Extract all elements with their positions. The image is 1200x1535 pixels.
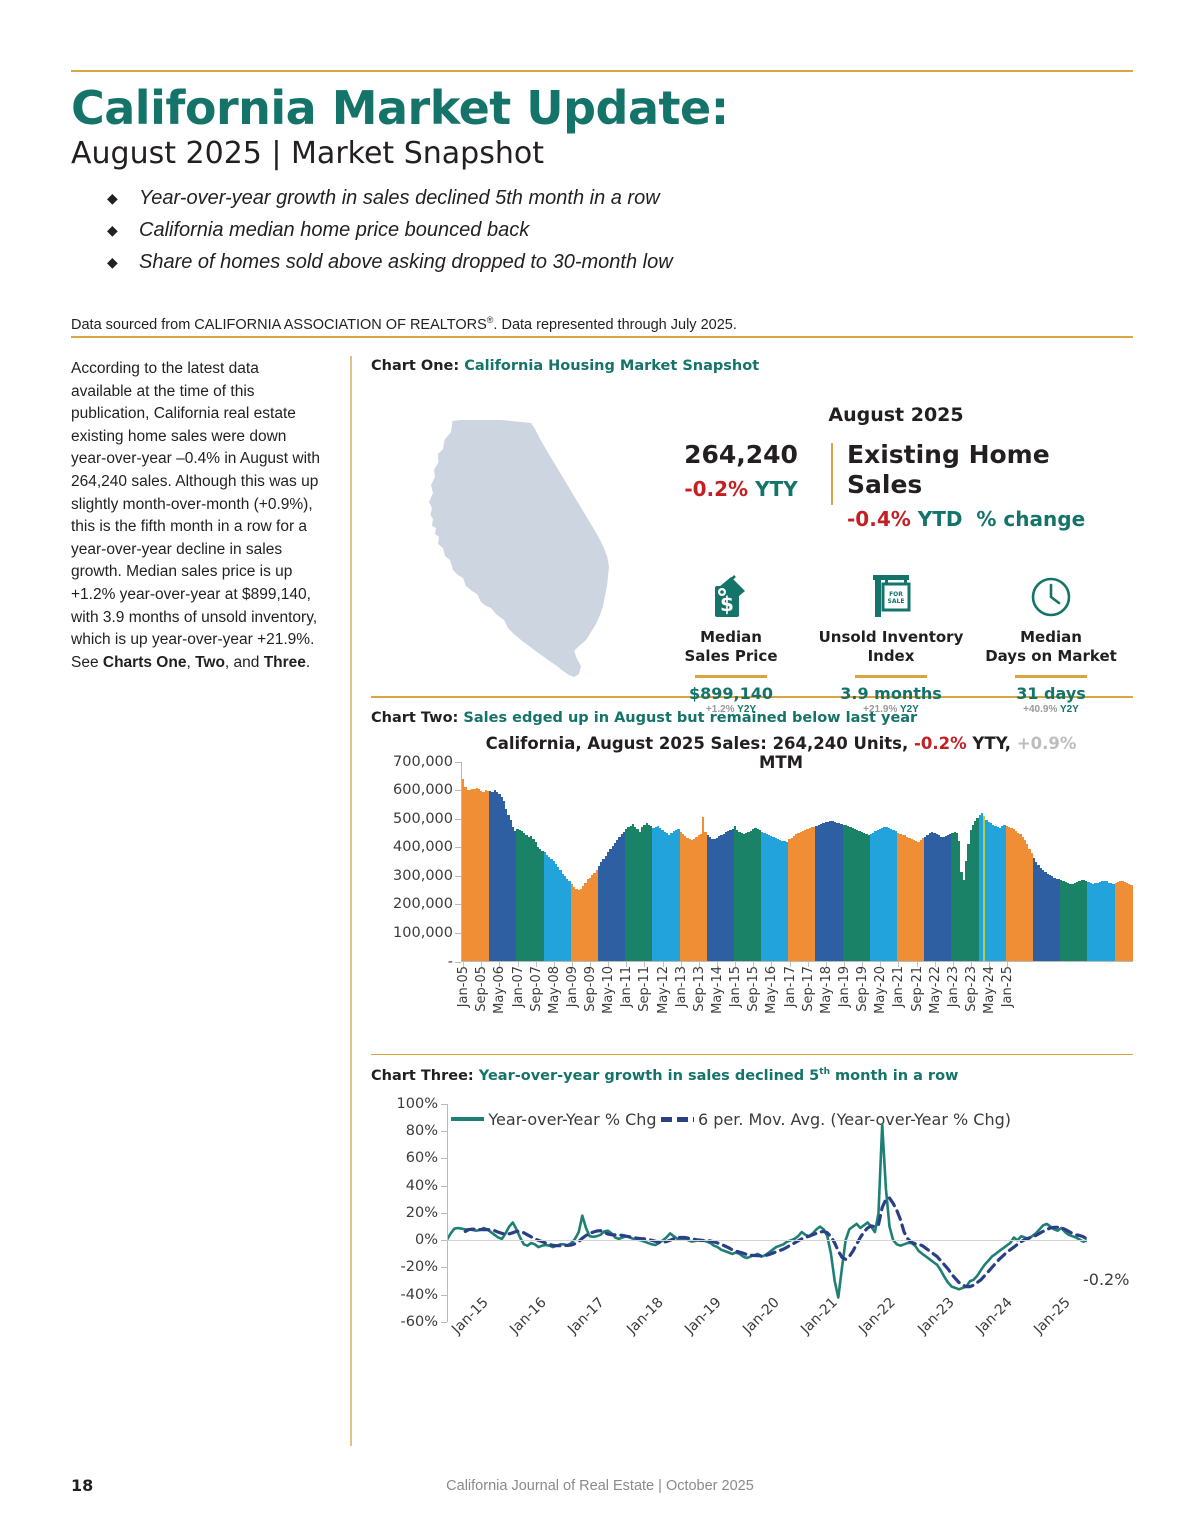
price-tag-dollar-icon: $	[651, 568, 811, 624]
chart-three-title-a: Year-over-year growth in sales declined …	[479, 1068, 820, 1084]
chart-three-caption: Chart Three: Year-over-year growth in sa…	[371, 1067, 1133, 1084]
tile-divider	[855, 675, 927, 678]
x-axis-tick-label: May-12	[656, 966, 671, 1014]
ref-chart-one: Charts One	[103, 654, 187, 671]
chart-three-title: Year-over-year growth in sales declined …	[479, 1068, 959, 1084]
chart-two-divider	[371, 1054, 1133, 1056]
y-axis-tick-label: -	[448, 954, 453, 970]
tile-divider	[1015, 675, 1087, 678]
tile-change-value: +1.2%	[706, 704, 735, 715]
y-axis-tick	[455, 819, 461, 820]
top-divider	[71, 70, 1133, 72]
x-axis-tick-label: Sep-05	[474, 966, 489, 1012]
y-axis-tick-label: -60%	[401, 1314, 438, 1330]
y-axis-tick-label: 20%	[406, 1205, 438, 1221]
x-axis-tick-label: Jan-25	[1000, 966, 1015, 1007]
page-header: California Market Update: August 2025 | …	[71, 82, 1141, 278]
text-period: .	[306, 654, 310, 671]
x-axis-tick-label: May-20	[873, 966, 888, 1014]
metric-tile-value: 3.9 months	[811, 684, 971, 703]
y-axis-tick	[455, 762, 461, 763]
clock-icon	[971, 568, 1131, 624]
chart-three-title-sup: th	[819, 1067, 830, 1077]
x-axis-tick-label: Jan-13	[674, 966, 689, 1007]
y-axis-tick	[441, 1131, 447, 1132]
x-axis-tick-label: Jan-17	[783, 966, 798, 1007]
x-axis-tick-label: May-14	[710, 966, 725, 1014]
hero-ytd-value: -0.4%	[847, 507, 911, 531]
chart-three-end-label: -0.2%	[1083, 1270, 1129, 1289]
hero-left: 264,240 -0.2% YTY	[651, 440, 831, 504]
x-axis-tick-label: Jan-05	[456, 966, 471, 1007]
x-axis-tick-label: Jan-07	[511, 966, 526, 1007]
hero-yty-value: -0.2%	[684, 477, 748, 501]
source-note-b: . Data represented through July 2025.	[493, 317, 736, 333]
bullet-item: ◆Year-over-year growth in sales declined…	[103, 182, 1141, 214]
metric-tiles: $ MedianSales Price $899,140 +1.2% Y2Y	[651, 568, 1131, 715]
ref-chart-two: Two	[195, 654, 225, 671]
y-axis-tick	[441, 1213, 447, 1214]
bullet-text: Share of homes sold above asking dropped…	[139, 251, 673, 273]
x-axis-tick-label: May-10	[601, 966, 616, 1014]
hero-yty-unit: YTY	[755, 477, 798, 501]
footer-text: California Journal of Real Estate | Octo…	[0, 1478, 1200, 1494]
tile-title-line1: Median	[700, 628, 762, 646]
tile-divider	[695, 675, 767, 678]
chart-one-caption: Chart One: California Housing Market Sna…	[371, 358, 1133, 374]
y-axis-tick-label: 300,000	[393, 868, 453, 884]
moving-average-line	[465, 1198, 1087, 1287]
x-axis-tick-label: May-16	[764, 966, 779, 1014]
y-axis-tick	[455, 962, 461, 963]
hero-ytd-unit: YTD	[918, 507, 963, 531]
y-axis-line	[447, 1104, 448, 1322]
chart-two-plot-area: -100,000200,000300,000400,000500,000600,…	[461, 762, 1133, 962]
bar-series	[462, 762, 1133, 961]
hero-row: 264,240 -0.2% YTY Existing Home Sales -0…	[651, 440, 1131, 534]
metric-tile-median-sales-price: $ MedianSales Price $899,140 +1.2% Y2Y	[651, 568, 811, 715]
plot-title-a: California, August 2025 Sales: 264,240 U…	[486, 734, 914, 753]
bar	[1130, 885, 1132, 960]
charts-column: Chart One: California Housing Market Sna…	[371, 358, 1133, 1400]
x-axis-tick-label: May-18	[819, 966, 834, 1014]
tile-change-unit: Y2Y	[900, 704, 919, 715]
y-axis-tick	[455, 904, 461, 905]
chart-two-prefix: Chart Two:	[371, 710, 458, 726]
bullet-text: Year-over-year growth in sales declined …	[139, 187, 660, 209]
bullet-text: California median home price bounced bac…	[139, 219, 529, 241]
article-body: According to the latest data available a…	[71, 358, 323, 674]
diamond-bullet-icon: ◆	[107, 214, 118, 246]
metric-tile-title: Unsold InventoryIndex	[811, 628, 971, 666]
metric-tile-title: MedianDays on Market	[971, 628, 1131, 666]
y-axis-tick-label: 400,000	[393, 839, 453, 855]
highlight-bullets: ◆Year-over-year growth in sales declined…	[71, 182, 1141, 278]
y-axis-tick-label: 60%	[406, 1150, 438, 1166]
page-title: California Market Update:	[71, 82, 1141, 134]
x-axis-tick-label: Sep-09	[583, 966, 598, 1012]
x-axis-labels: Jan-15Jan-16Jan-17Jan-18Jan-19Jan-20Jan-…	[447, 1326, 1087, 1396]
tile-title-line2: Index	[868, 647, 915, 665]
chart-one-title: California Housing Market Snapshot	[464, 358, 759, 374]
y-axis-tick	[455, 847, 461, 848]
text-sep: , and	[225, 654, 264, 671]
y-axis-tick-label: 80%	[406, 1123, 438, 1139]
metric-tile-title: MedianSales Price	[651, 628, 811, 666]
svg-text:SALE: SALE	[888, 598, 905, 605]
chart-one-prefix: Chart One:	[371, 358, 459, 374]
x-axis-tick-label: Sep-11	[637, 966, 652, 1012]
x-axis-tick-label: Sep-13	[692, 966, 707, 1012]
line-series-svg	[447, 1104, 1087, 1322]
metric-tile-change: +40.9% Y2Y	[971, 704, 1131, 715]
plot-title-mtm: +0.9%	[1017, 734, 1077, 753]
tile-change-unit: Y2Y	[737, 704, 756, 715]
chart-three-prefix: Chart Three:	[371, 1068, 474, 1084]
for-sale-sign-icon: FOR SALE	[811, 568, 971, 624]
x-axis-labels: Jan-05Sep-05May-06Jan-07Sep-07May-08Jan-…	[462, 966, 1133, 1052]
tile-title-line1: Median	[1020, 628, 1082, 646]
y-axis-tick-label: 100,000	[393, 925, 453, 941]
x-axis-tick-label: Jan-21	[891, 966, 906, 1007]
hero-ytd: -0.4% YTD % change	[847, 504, 1131, 534]
x-axis-tick-label: Sep-19	[855, 966, 870, 1012]
svg-text:$: $	[720, 592, 734, 616]
metric-tile-value: $899,140	[651, 684, 811, 703]
chart-one-stats: August 2025 264,240 -0.2% YTY Existing H…	[651, 404, 1131, 715]
chart-one: August 2025 264,240 -0.2% YTY Existing H…	[371, 376, 1133, 696]
hero-metric-label: Existing Home Sales	[847, 440, 1131, 500]
x-axis-tick-label: May-08	[547, 966, 562, 1014]
y-axis-tick	[441, 1186, 447, 1187]
metric-tile-unsold-inventory-index: FOR SALE Unsold InventoryIndex 3.9 month…	[811, 568, 971, 715]
y-axis-tick-label: 200,000	[393, 896, 453, 912]
bullet-item: ◆California median home price bounced ba…	[103, 214, 1141, 246]
x-axis-tick-label: May-22	[928, 966, 943, 1014]
x-axis-tick-label: Jan-19	[837, 966, 852, 1007]
y-axis-tick	[441, 1267, 447, 1268]
y-axis-tick-label: 0%	[415, 1232, 438, 1248]
chart-three-section: Chart Three: Year-over-year growth in sa…	[371, 1067, 1133, 1400]
tile-change-value: +40.9%	[1023, 704, 1057, 715]
document-page: California Market Update: August 2025 | …	[0, 0, 1200, 1535]
hero-divider	[831, 443, 833, 505]
x-axis-tick-label: Sep-21	[910, 966, 925, 1012]
source-note: Data sourced from CALIFORNIA ASSOCIATION…	[71, 310, 1133, 335]
y-axis-tick-label: -40%	[401, 1287, 438, 1303]
bullet-item: ◆Share of homes sold above asking droppe…	[103, 246, 1141, 278]
hero-yty: -0.2% YTY	[651, 474, 831, 504]
y-axis-tick-label: 40%	[406, 1178, 438, 1194]
y-axis-tick-label: 500,000	[393, 811, 453, 827]
hero-right: Existing Home Sales -0.4% YTD % change	[847, 440, 1131, 534]
footer-publication: California Journal of Real Estate | Octo…	[446, 1478, 754, 1494]
y-axis-tick-label: 600,000	[393, 782, 453, 798]
x-axis-tick-label: May-06	[492, 966, 507, 1014]
x-axis-tick-label: Jan-15	[728, 966, 743, 1007]
x-axis-tick-label: Sep-07	[529, 966, 544, 1012]
snapshot-month: August 2025	[661, 404, 1131, 426]
source-note-a: Data sourced from CALIFORNIA ASSOCIATION…	[71, 317, 487, 333]
y-axis-tick-label: 100%	[397, 1096, 438, 1112]
ref-chart-three: Three	[264, 654, 306, 671]
page-subtitle: August 2025 | Market Snapshot	[71, 136, 1141, 172]
tile-change-value: +21.9%	[863, 704, 897, 715]
y-axis-tick-label: -20%	[401, 1259, 438, 1275]
california-state-shape-icon	[411, 418, 626, 680]
chart-three-title-b: month in a row	[830, 1068, 958, 1084]
tile-title-line2: Sales Price	[685, 647, 778, 665]
metric-tile-median-days-on-market: MedianDays on Market 31 days +40.9% Y2Y	[971, 568, 1131, 715]
chart-two: California, August 2025 Sales: 264,240 U…	[371, 734, 1133, 1054]
svg-text:FOR: FOR	[889, 591, 903, 598]
y-axis-tick	[441, 1104, 447, 1105]
column-divider	[350, 356, 352, 1446]
zero-gridline	[447, 1240, 1087, 1241]
hero-pct-change-note: % change	[976, 507, 1085, 531]
diamond-bullet-icon: ◆	[107, 182, 118, 214]
y-axis-tick	[455, 933, 461, 934]
tile-change-unit: Y2Y	[1060, 704, 1079, 715]
diamond-bullet-icon: ◆	[107, 246, 118, 278]
y-axis-tick	[441, 1295, 447, 1296]
x-axis-tick-label: Sep-15	[746, 966, 761, 1012]
x-axis-tick-label: Jan-09	[565, 966, 580, 1007]
x-axis-tick-label: Sep-17	[801, 966, 816, 1012]
text-sep: ,	[186, 654, 195, 671]
yoy-change-line	[447, 1124, 1087, 1297]
y-axis-tick	[441, 1322, 447, 1323]
x-axis-tick-label: Jan-11	[619, 966, 634, 1007]
y-axis-tick	[441, 1158, 447, 1159]
metric-tile-value: 31 days	[971, 684, 1131, 703]
chart-three: Year-over-Year % Chg 6 per. Mov. Avg. (Y…	[371, 1090, 1133, 1400]
hero-sales-number: 264,240	[651, 440, 831, 470]
article-paragraph: According to the latest data available a…	[71, 360, 320, 671]
tile-title-line2: Days on Market	[985, 647, 1117, 665]
chart-two-section: Chart Two: Sales edged up in August but …	[371, 710, 1133, 1054]
x-axis-tick-label: May-24	[982, 966, 997, 1014]
metric-tile-change: +21.9% Y2Y	[811, 704, 971, 715]
x-axis-tick-label: Sep-23	[964, 966, 979, 1012]
tile-title-line1: Unsold Inventory	[819, 628, 964, 646]
chart-three-plot-area: -60%-40%-20%0%20%40%60%80%100%	[447, 1104, 1087, 1322]
x-axis-tick-label: Jan-23	[946, 966, 961, 1007]
y-axis-tick	[455, 876, 461, 877]
metric-tile-change: +1.2% Y2Y	[651, 704, 811, 715]
plot-title-yty: -0.2%	[914, 734, 967, 753]
plot-title-b: YTY,	[967, 734, 1017, 753]
y-axis-tick	[455, 790, 461, 791]
header-divider	[71, 336, 1133, 338]
y-axis-tick-label: 700,000	[393, 754, 453, 770]
